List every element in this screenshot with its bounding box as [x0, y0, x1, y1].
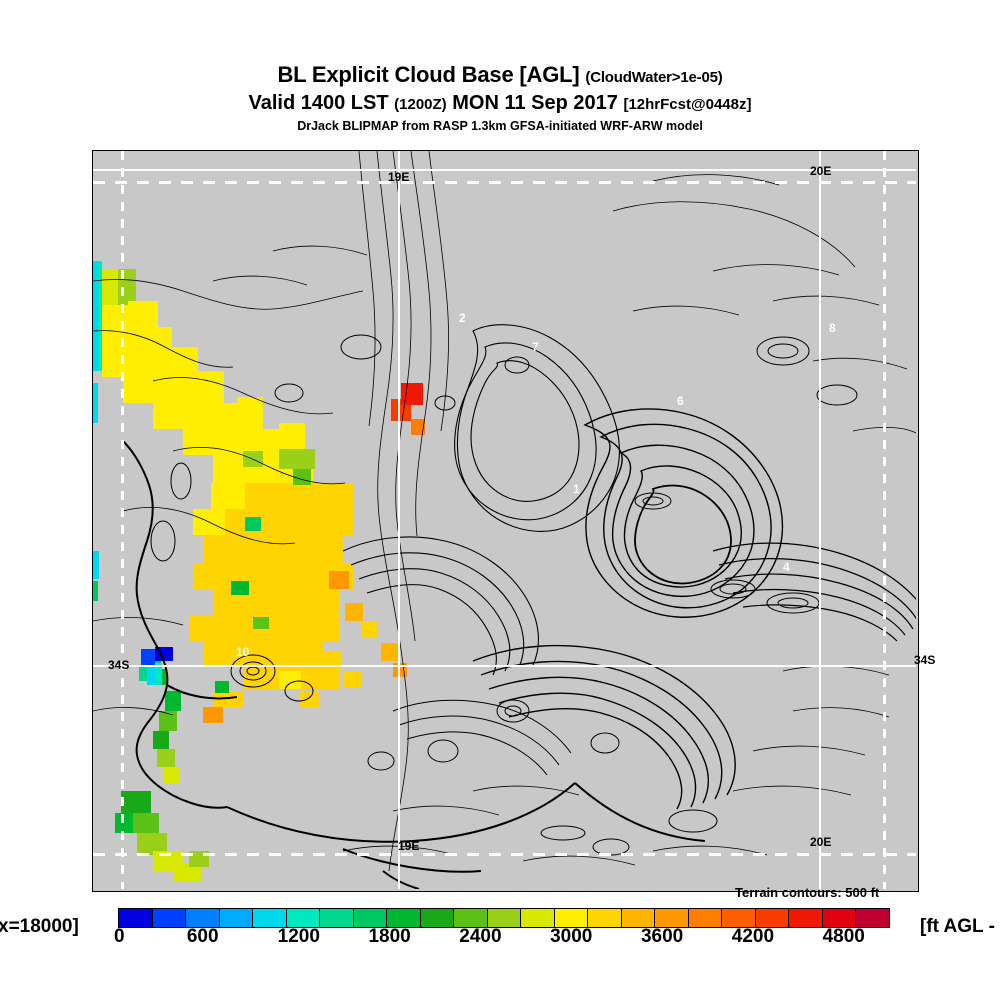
colorbar-tick-4800: 4800 — [823, 926, 865, 948]
gridline-lon-20e — [819, 151, 821, 889]
colorbar-segment-4 — [253, 909, 287, 927]
lon-label-20e-bottom: 20E — [810, 835, 831, 849]
colorbar-tick-2400: 2400 — [459, 926, 501, 948]
map-canvas — [93, 151, 916, 889]
terrain-contour-layer — [93, 151, 916, 889]
station-label-4: 4 — [783, 560, 790, 574]
colorbar-segment-3 — [220, 909, 254, 927]
gridline-lon-19e — [398, 151, 400, 889]
station-label-8: 8 — [829, 321, 836, 335]
station-label-6: 6 — [677, 394, 684, 408]
map-panel[interactable] — [92, 150, 919, 892]
colorbar-segment-15 — [622, 909, 656, 927]
colorbar-segment-19 — [756, 909, 790, 927]
colorbar-tick-600: 600 — [187, 926, 219, 948]
colorbar-segment-1 — [153, 909, 187, 927]
colorbar-segment-22 — [856, 909, 889, 927]
colorbar-segment-9 — [421, 909, 455, 927]
station-label-7: 7 — [532, 340, 539, 354]
colorbar-segment-21 — [823, 909, 857, 927]
domain-boundary-south — [93, 853, 916, 856]
valid-date: MON 11 Sep 2017 — [452, 92, 618, 114]
colorbar-segment-13 — [555, 909, 589, 927]
colorbar-tick-3600: 3600 — [641, 926, 683, 948]
colorbar-segment-12 — [521, 909, 555, 927]
colorbar-segment-5 — [287, 909, 321, 927]
gridline-lat-top — [93, 169, 916, 171]
lat-label-34s-left: 34S — [108, 658, 129, 672]
title-main-suffix: (CloudWater>1e-05) — [585, 69, 722, 86]
colorbar-tick-1800: 1800 — [368, 926, 410, 948]
colorbar-segment-6 — [320, 909, 354, 927]
colorbar-segment-7 — [354, 909, 388, 927]
valid-zulu: (1200Z) — [394, 96, 447, 113]
terrain-contour-note: Terrain contours: 500 ft — [735, 885, 879, 900]
station-label-1: 1 — [573, 482, 580, 496]
valid-prefix: Valid 1400 LST — [249, 92, 389, 114]
colorbar-segment-10 — [454, 909, 488, 927]
colorbar-segment-20 — [789, 909, 823, 927]
station-label-10: 10 — [236, 645, 249, 659]
lon-label-19e-bottom: 19E — [398, 839, 419, 853]
colorbar[interactable] — [118, 908, 890, 928]
domain-boundary-east — [883, 151, 886, 889]
colorbar-right-label: [ft AGL - m — [920, 916, 1000, 938]
colorbar-tick-3000: 3000 — [550, 926, 592, 948]
domain-boundary-west — [121, 151, 124, 889]
domain-boundary-north — [93, 181, 916, 184]
colorbar-segment-8 — [387, 909, 421, 927]
forecast-stamp: [12hrFcst@0448z] — [623, 96, 751, 113]
lon-label-19e-top: 19E — [388, 170, 409, 184]
title-block: BL Explicit Cloud Base [AGL] (CloudWater… — [0, 62, 1000, 136]
colorbar-tick-4200: 4200 — [732, 926, 774, 948]
gridline-lat-34s — [93, 665, 916, 667]
colorbar-segment-2 — [186, 909, 220, 927]
title-main-line: BL Explicit Cloud Base [AGL] (CloudWater… — [0, 62, 1000, 91]
colorbar-tick-0: 0 — [114, 926, 125, 948]
title-valid-line: Valid 1400 LST (1200Z) MON 11 Sep 2017 [… — [0, 91, 1000, 117]
colorbar-segment-18 — [722, 909, 756, 927]
colorbar-segment-11 — [488, 909, 522, 927]
title-main: BL Explicit Cloud Base [AGL] — [277, 62, 579, 87]
lat-label-34s-right: 34S — [914, 653, 935, 667]
station-label-2: 2 — [459, 311, 466, 325]
lon-label-20e-top: 20E — [810, 164, 831, 178]
colorbar-segment-14 — [588, 909, 622, 927]
model-credit: DrJack BLIPMAP from RASP 1.3km GFSA-init… — [0, 117, 1000, 136]
colorbar-tick-1200: 1200 — [278, 926, 320, 948]
colorbar-segment-16 — [655, 909, 689, 927]
colorbar-left-label: x=18000] — [0, 916, 79, 938]
colorbar-segment-0 — [119, 909, 153, 927]
colorbar-segment-17 — [689, 909, 723, 927]
